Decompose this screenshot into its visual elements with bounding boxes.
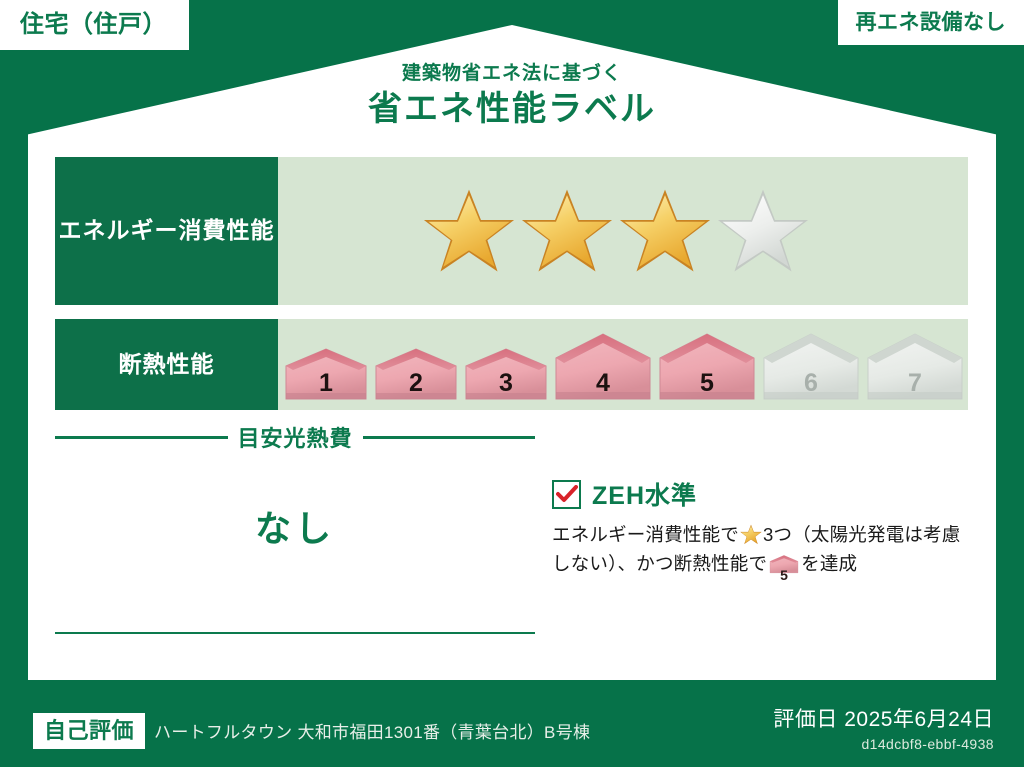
star-icon: [619, 186, 711, 276]
zeh-heading: ZEH水準: [552, 476, 972, 512]
energy-performance-row: エネルギー消費性能: [55, 157, 968, 305]
energy-cost-heading: 目安光熱費: [55, 421, 535, 453]
insulation-level-value: 4: [553, 371, 653, 396]
insulation-level-2: 2: [373, 348, 459, 402]
rule-left: [55, 436, 228, 439]
insulation-level-7: 7: [865, 332, 965, 402]
insulation-level-value: 7: [865, 371, 965, 396]
insulation-level-6: 6: [761, 332, 861, 402]
insulation-level-1: 1: [283, 348, 369, 402]
insulation-level-scale: 1 2 3: [283, 319, 965, 410]
insulation-level-value: 6: [761, 371, 861, 396]
insulation-performance-row: 断熱性能: [55, 319, 968, 410]
section-divider: [55, 632, 535, 634]
energy-performance-label: 住宅（住戸） 再エネ設備なし 建築物省エネ法に基づく 省エネ性能ラベル エネルギ…: [0, 0, 1024, 767]
star-icon-inline: [740, 524, 762, 545]
star-icon: [521, 186, 613, 276]
zeh-description: エネルギー消費性能で3つ（太陽光発電は考慮しない）、かつ断熱性能で5を達成: [552, 521, 972, 583]
star-rating: [423, 186, 809, 276]
rule-right: [363, 436, 536, 439]
star-icon-empty: [717, 186, 809, 276]
house-icon-inline: 5: [769, 554, 799, 584]
insulation-level-value: 1: [283, 371, 369, 396]
insulation-performance-label-text: 断熱性能: [55, 319, 278, 410]
label-main-title: 省エネ性能ラベル: [0, 88, 1024, 131]
insulation-level-5: 5: [657, 332, 757, 402]
energy-performance-label-text: エネルギー消費性能: [55, 157, 278, 305]
star-icon: [423, 186, 515, 276]
energy-performance-rating-panel: [278, 157, 968, 305]
insulation-level-value: 5: [657, 371, 757, 396]
zeh-desc-part3: を達成: [801, 553, 857, 574]
building-type-badge: 住宅（住戸）: [0, 0, 189, 50]
label-title-block: 建築物省エネ法に基づく 省エネ性能ラベル: [0, 63, 1024, 130]
footer-right: 評価日 2025年6月24日 d14dcbf8-ebbf-4938: [773, 706, 994, 753]
record-id: d14dcbf8-ebbf-4938: [773, 735, 994, 753]
insulation-level-4: 4: [553, 332, 653, 402]
self-evaluation-badge: 自己評価: [33, 713, 145, 749]
insulation-level-value: 3: [463, 371, 549, 396]
house-icon-level: 5: [769, 568, 799, 582]
energy-cost-value: なし: [55, 500, 535, 552]
zeh-desc-part1: エネルギー消費性能で: [552, 524, 739, 545]
check-icon[interactable]: [552, 480, 581, 509]
zeh-block: ZEH水準 エネルギー消費性能で3つ（太陽光発電は考慮しない）、かつ断熱性能で5…: [552, 476, 972, 583]
zeh-title-text: ZEH水準: [592, 476, 697, 512]
renewable-energy-badge: 再エネ設備なし: [838, 0, 1024, 45]
footer-left: 自己評価 ハートフルタウン 大和市福田1301番（青葉台北）B号棟: [33, 713, 590, 749]
insulation-level-value: 2: [373, 371, 459, 396]
insulation-scale-panel: 1 2 3: [278, 319, 968, 410]
insulation-level-3: 3: [463, 348, 549, 402]
energy-cost-heading-text: 目安光熱費: [238, 421, 353, 453]
evaluation-date: 評価日 2025年6月24日: [773, 706, 994, 733]
property-name: ハートフルタウン 大和市福田1301番（青葉台北）B号棟: [154, 718, 590, 743]
zeh-desc-star-count: 3つ（太陽光発電: [763, 524, 904, 545]
label-subtitle: 建築物省エネ法に基づく: [0, 63, 1024, 86]
